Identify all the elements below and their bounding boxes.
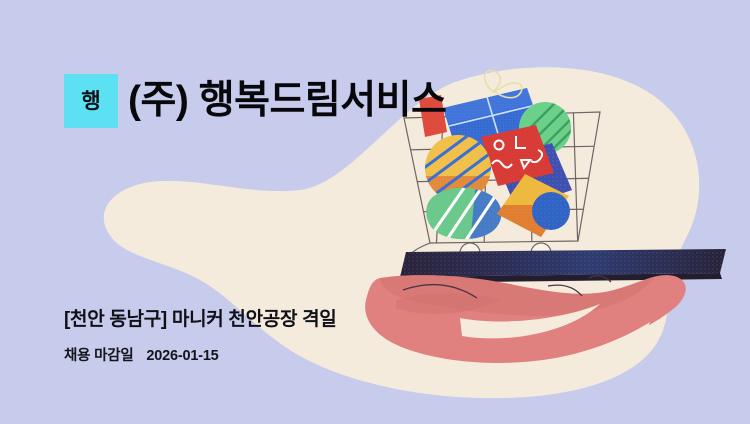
job-posting-banner: 행 (주) 행복드림서비스 [천안 동남구] 마니커 천안공장 격일 채용 마감… bbox=[0, 0, 750, 424]
deadline-date: 2026-01-15 bbox=[146, 348, 218, 364]
company-logo-initial: 행 bbox=[81, 91, 100, 112]
deadline-row: 채용 마감일 2026-01-15 bbox=[64, 344, 219, 365]
text-overlay: 행 (주) 행복드림서비스 [천안 동남구] 마니커 천안공장 격일 채용 마감… bbox=[0, 0, 750, 424]
job-title: [천안 동남구] 마니커 천안공장 격일 bbox=[64, 304, 337, 331]
deadline-label: 채용 마감일 bbox=[64, 348, 134, 364]
company-name: (주) 행복드림서비스 bbox=[128, 76, 446, 126]
company-logo-badge: 행 bbox=[64, 74, 118, 128]
